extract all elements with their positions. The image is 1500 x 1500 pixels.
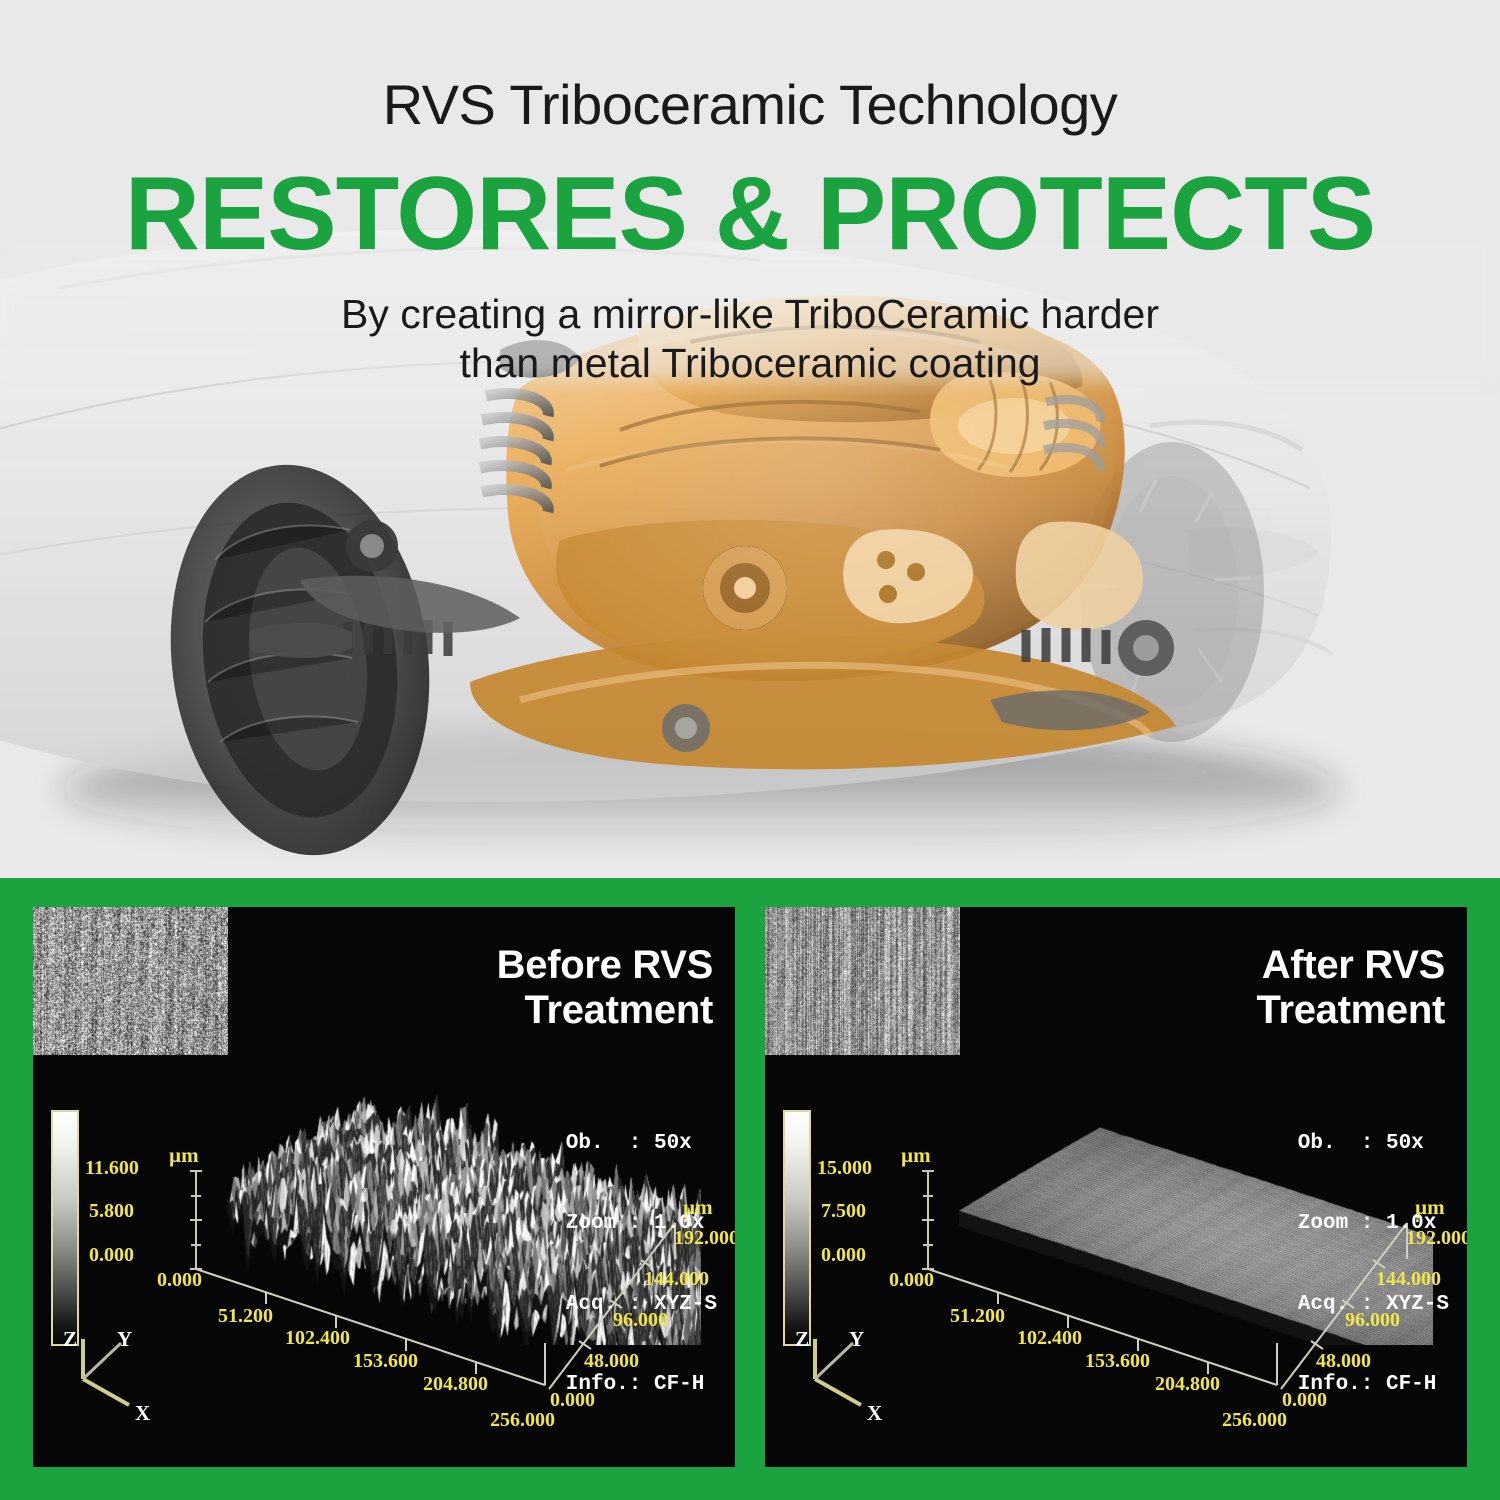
meta-row-zoom-before: Zoom : 1.0x (566, 1211, 717, 1238)
colorbar-tick-after-1: 7.500 (821, 1200, 866, 1223)
meta-row-ob-after: Ob. : 50x (1298, 1131, 1449, 1158)
colorbar-tick-before-2: 0.000 (89, 1244, 134, 1267)
x-axis-tick-before-0: 51.200 (218, 1305, 273, 1328)
x-axis-tick-after-0: 51.200 (950, 1305, 1005, 1328)
hero-headline: RESTORES & PROTECTS (0, 160, 1500, 269)
hero-subtitle: By creating a mirror-like TriboCeramic h… (0, 290, 1500, 388)
meta-row-info-after: Info.: CF-H (1298, 1372, 1449, 1399)
hero-subtitle-line-1: By creating a mirror-like TriboCeramic h… (341, 291, 1159, 337)
triad-label-z-after: Z (795, 1327, 809, 1352)
axis-triad-before: Z Y X (61, 1327, 171, 1431)
z-axis-spine-after (915, 1169, 941, 1273)
panel-before-rvs: Before RVS Treatment 11.600 5.800 0.000 … (33, 907, 735, 1467)
triad-label-x-before: X (135, 1401, 150, 1426)
triad-label-y-before: Y (117, 1327, 132, 1352)
triad-label-y-after: Y (849, 1327, 864, 1352)
x-axis-tick-before-3: 204.800 (423, 1373, 488, 1396)
meta-row-acq-before: Acq. : XYZ-S (566, 1292, 717, 1319)
meta-row-zoom-after: Zoom : 1.0x (1298, 1211, 1449, 1238)
colorbar-tick-before-1: 5.800 (89, 1200, 134, 1223)
z-axis-unit-before: µm (169, 1143, 199, 1168)
colorbar-tick-before-0: 11.600 (85, 1157, 139, 1180)
poster-root: RVS Triboceramic Technology RESTORES & P… (0, 0, 1500, 1500)
colorbar-tick-after-2: 0.000 (821, 1244, 866, 1267)
x-axis-tick-after-4: 256.000 (1222, 1409, 1287, 1432)
acquisition-meta-before: Ob. : 50x Zoom : 1.0x Acq. : XYZ-S Info.… (566, 1077, 717, 1453)
meta-row-acq-after: Acq. : XYZ-S (1298, 1292, 1449, 1319)
x-axis-origin-before: 0.000 (157, 1269, 202, 1292)
hero-subtitle-line-2: than metal Triboceramic coating (0, 339, 1500, 388)
triad-label-x-after: X (867, 1401, 882, 1426)
acquisition-meta-after: Ob. : 50x Zoom : 1.0x Acq. : XYZ-S Info.… (1298, 1077, 1449, 1453)
colorbar-before (51, 1110, 79, 1346)
axis-triad-svg-after (793, 1327, 903, 1417)
x-axis-spine-before (193, 1265, 573, 1395)
colorbar-tick-after-0: 15.000 (817, 1157, 872, 1180)
z-axis-unit-after: µm (901, 1143, 931, 1168)
meta-row-info-before: Info.: CF-H (566, 1372, 717, 1399)
panel-after-rvs: After RVS Treatment 15.000 7.500 0.000 µ… (765, 907, 1467, 1467)
x-axis-tick-after-2: 153.600 (1085, 1350, 1150, 1373)
colorbar-after (783, 1110, 811, 1346)
x-axis-origin-after: 0.000 (889, 1269, 934, 1292)
x-axis-spine-after (925, 1265, 1305, 1395)
z-axis-spine-before (183, 1169, 209, 1273)
panel-label-before-line-1: Before RVS (497, 943, 713, 987)
panel-label-after-line-1: After RVS (1262, 943, 1445, 987)
x-axis-tick-before-2: 153.600 (353, 1350, 418, 1373)
hero-section: RVS Triboceramic Technology RESTORES & P… (0, 0, 1500, 878)
hero-eyebrow-title: RVS Triboceramic Technology (0, 76, 1500, 135)
axis-triad-after: Z Y X (793, 1327, 903, 1431)
triad-label-z-before: Z (63, 1327, 77, 1352)
x-axis-tick-after-1: 102.400 (1017, 1327, 1082, 1350)
x-axis-tick-before-4: 256.000 (490, 1409, 555, 1432)
meta-row-ob-before: Ob. : 50x (566, 1131, 717, 1158)
axis-triad-svg-before (61, 1327, 171, 1417)
x-axis-tick-after-3: 204.800 (1155, 1373, 1220, 1396)
x-axis-tick-before-1: 102.400 (285, 1327, 350, 1350)
